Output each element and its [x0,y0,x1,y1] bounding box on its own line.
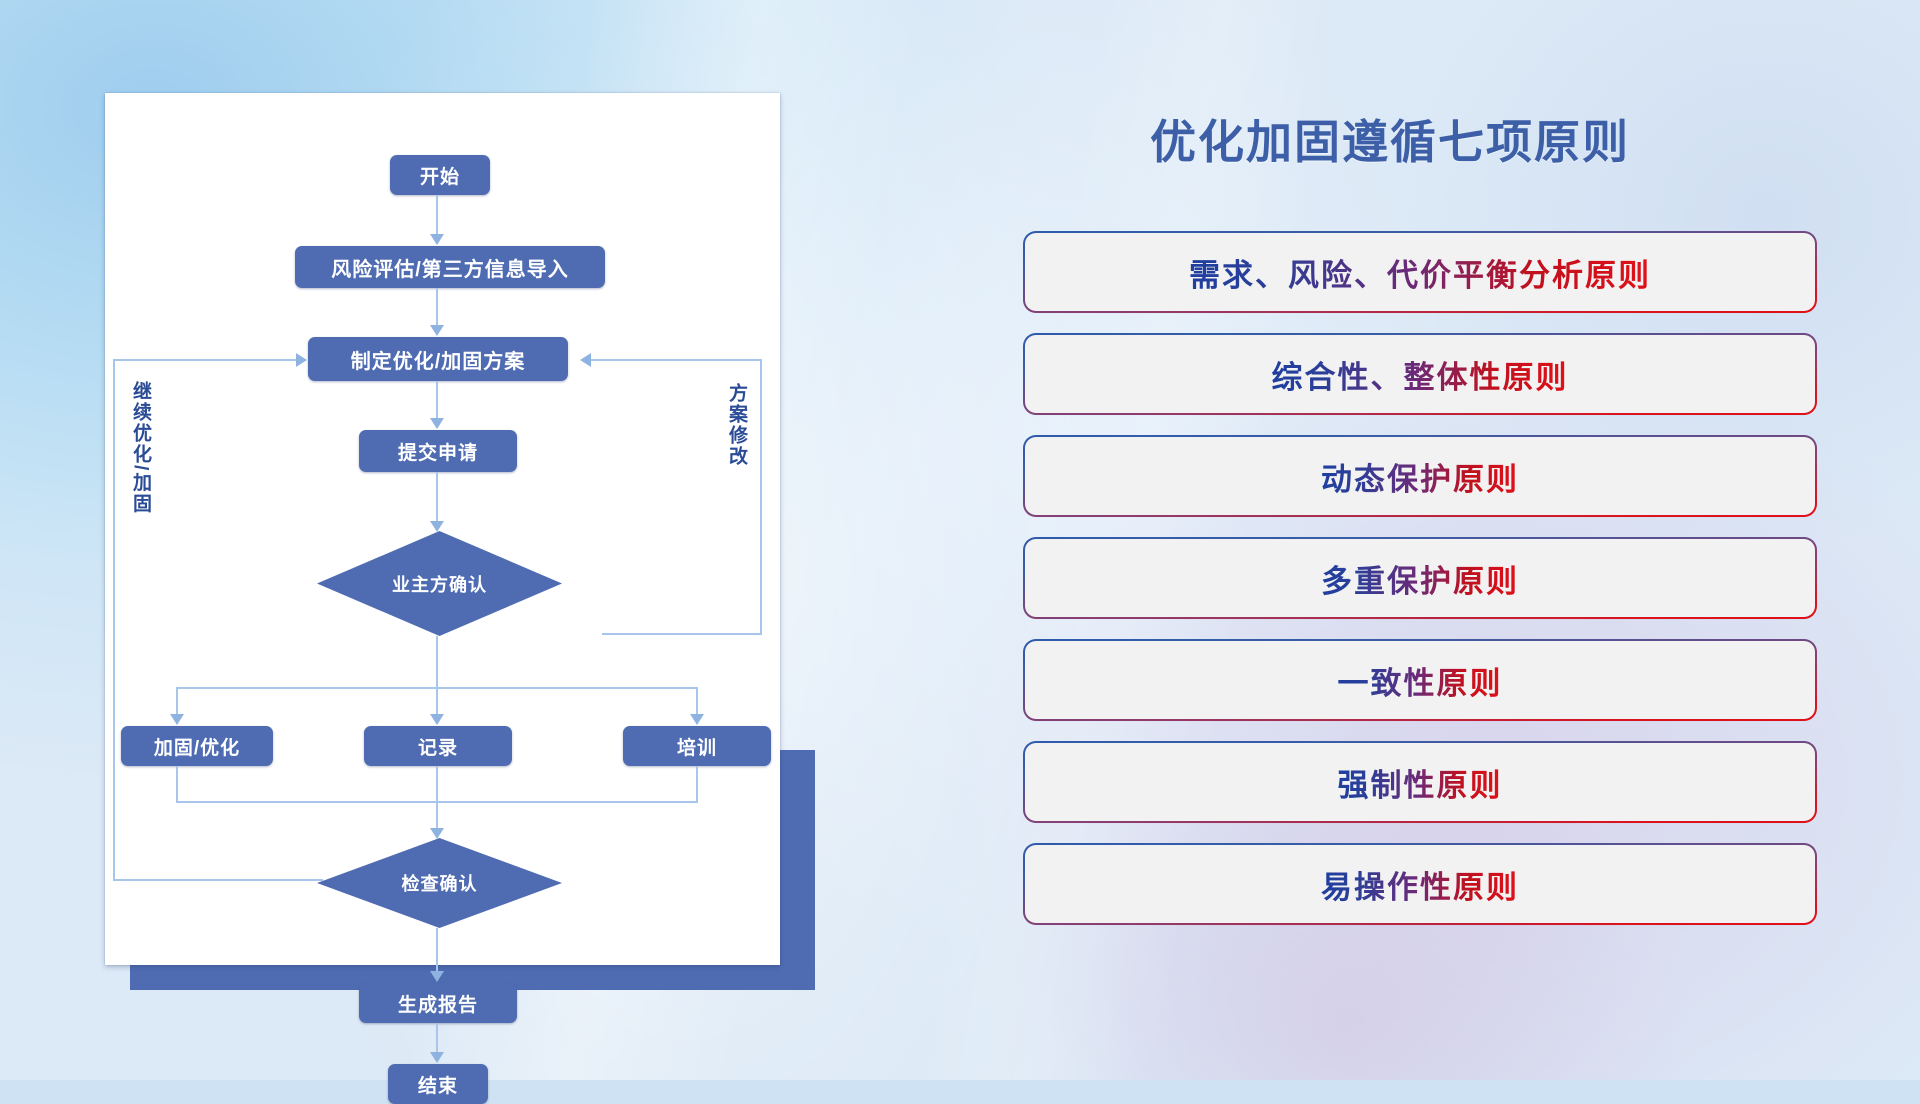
principle-label: 一致性原则 [1338,658,1503,703]
flow-arrow-down [430,521,444,532]
principles-list: 需求、风险、代价平衡分析原则 综合性、整体性原则 动态保护原则 多重保护原则 一… [1025,233,1815,947]
flow-node-end[interactable]: 结束 [388,1064,488,1104]
flow-node-label: 开始 [420,162,460,189]
flow-loop-right-label: 方案修改 [723,383,750,467]
flow-arrow-down [430,325,444,336]
flow-node-check-confirm[interactable]: 检查确认 [317,838,562,928]
principle-card-4[interactable]: 多重保护原则 [1025,539,1815,617]
principle-card-surface: 强制性原则 [1025,743,1815,821]
principle-card-6[interactable]: 强制性原则 [1025,743,1815,821]
flow-split-leg-mid [436,687,438,717]
flow-node-training[interactable]: 培训 [623,726,771,766]
principle-label: 多重保护原则 [1321,556,1519,601]
flow-edge-owner-to-split [436,636,438,687]
principle-card-surface: 综合性、整体性原则 [1025,335,1815,413]
principle-label: 综合性、整体性原则 [1272,352,1569,397]
flow-merge-leg-left [176,766,178,803]
flow-node-label: 记录 [418,733,458,760]
flow-loop-right-vertical [760,359,762,635]
flow-arrow-down [430,234,444,245]
flow-loop-left-vertical [113,359,115,881]
principle-card-7[interactable]: 易操作性原则 [1025,845,1815,923]
flow-merge-leg-right [696,766,698,803]
flow-loop-left-bottom [113,879,323,881]
principles-pane: 优化加固遵循七项原则 需求、风险、代价平衡分析原则 综合性、整体性原则 动态保护… [1000,0,1920,1080]
principle-card-5[interactable]: 一致性原则 [1025,641,1815,719]
flow-node-label: 制定优化/加固方案 [351,345,526,374]
principle-card-surface: 动态保护原则 [1025,437,1815,515]
flow-edge-plan-to-submit [436,381,438,421]
flow-edge-check-to-report [436,928,438,974]
flow-node-submit[interactable]: 提交申请 [359,430,517,472]
flow-node-owner-confirm[interactable]: 业主方确认 [317,531,562,636]
flow-node-label: 提交申请 [398,438,478,465]
flow-split-leg-right [696,687,698,717]
flow-loop-right-bottom [602,633,762,635]
flow-arrow-down [690,714,704,725]
principle-card-surface: 一致性原则 [1025,641,1815,719]
flow-node-label: 培训 [677,733,717,760]
flow-edge-merge-to-check [436,801,438,831]
page-title: 优化加固遵循七项原则 [1150,106,1630,172]
principle-card-2[interactable]: 综合性、整体性原则 [1025,335,1815,413]
flow-edge-start-to-risk [436,195,438,237]
flow-node-reinforce[interactable]: 加固/优化 [121,726,273,766]
flow-arrow-right [296,353,307,367]
flow-node-report[interactable]: 生成报告 [359,983,517,1023]
flow-loop-left-label: 继续优化/加固 [127,381,154,514]
flow-edge-submit-to-owner [436,472,438,524]
flow-arrow-down [430,828,444,839]
flow-node-label: 结束 [418,1071,458,1098]
flow-node-record[interactable]: 记录 [364,726,512,766]
flow-arrow-down [430,1052,444,1063]
flow-node-start[interactable]: 开始 [390,155,490,195]
flowchart-card: 开始 风险评估/第三方信息导入 制定优化/加固方案 继续优化/加固 方案修改 提… [105,93,780,965]
principle-card-surface: 多重保护原则 [1025,539,1815,617]
principle-label: 强制性原则 [1338,760,1503,805]
principle-card-surface: 易操作性原则 [1025,845,1815,923]
flow-node-label: 业主方确认 [392,571,487,597]
flow-arrow-down [430,971,444,982]
flowchart-diagram: 开始 风险评估/第三方信息导入 制定优化/加固方案 继续优化/加固 方案修改 提… [105,93,780,965]
flow-node-risk-assessment[interactable]: 风险评估/第三方信息导入 [295,246,605,288]
flow-edge-report-to-end [436,1023,438,1055]
flow-arrow-left [580,353,591,367]
flow-node-label: 加固/优化 [154,733,240,760]
principle-label: 需求、风险、代价平衡分析原则 [1189,250,1651,295]
principle-card-surface: 需求、风险、代价平衡分析原则 [1025,233,1815,311]
principle-card-3[interactable]: 动态保护原则 [1025,437,1815,515]
flow-node-label: 生成报告 [398,990,478,1017]
principle-card-1[interactable]: 需求、风险、代价平衡分析原则 [1025,233,1815,311]
flow-node-label: 风险评估/第三方信息导入 [331,253,569,282]
flow-arrow-down [430,714,444,725]
flow-edge-risk-to-plan [436,288,438,328]
flow-loop-left-top [113,359,298,361]
principle-label: 易操作性原则 [1321,862,1519,907]
flow-arrow-down [430,418,444,429]
flow-node-label: 检查确认 [402,870,478,896]
principle-label: 动态保护原则 [1321,454,1519,499]
flow-node-plan[interactable]: 制定优化/加固方案 [308,337,568,381]
flow-merge-leg-mid [436,766,438,803]
flow-loop-right-top [590,359,762,361]
flow-arrow-down [170,714,184,725]
flow-split-leg-left [176,687,178,717]
